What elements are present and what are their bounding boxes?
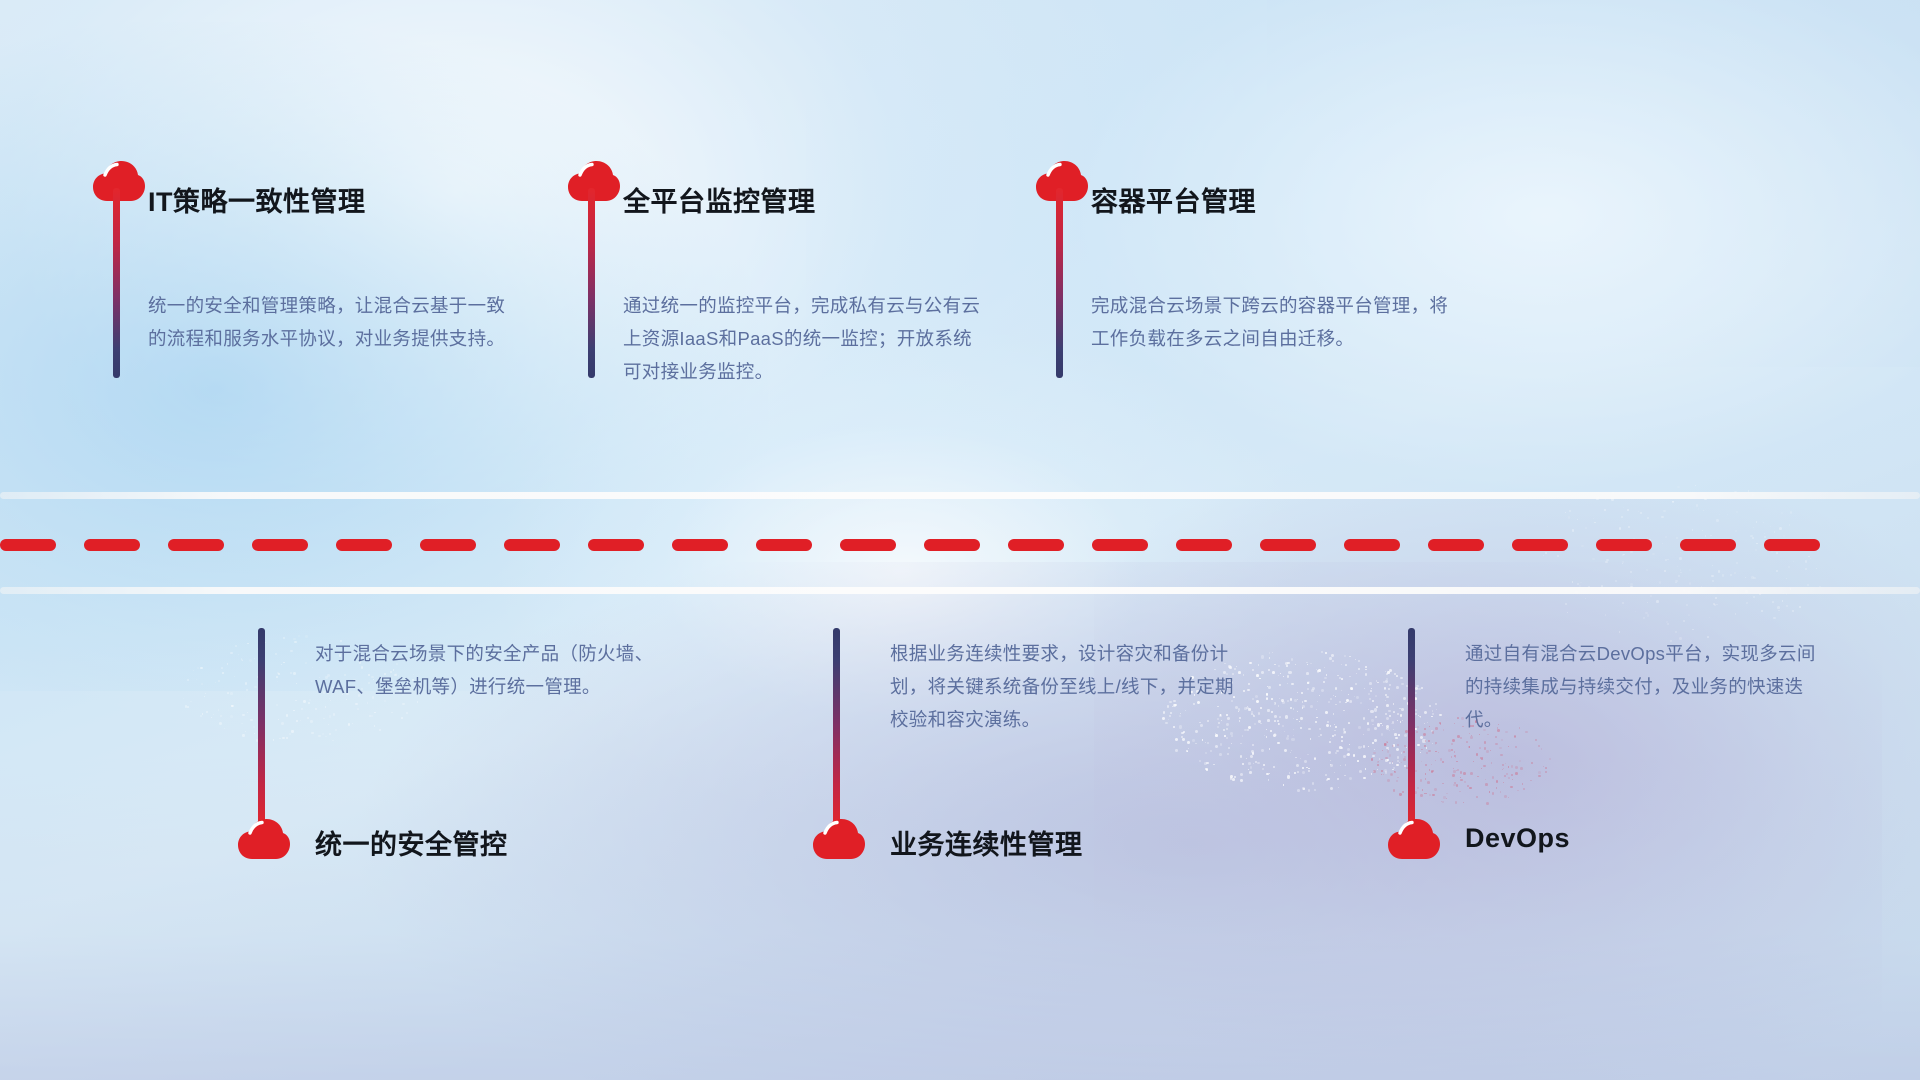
cloud-icon [812,818,866,860]
road-dash [588,539,644,551]
cloud-icon [1387,818,1441,860]
card-title: 容器平台管理 [1091,180,1256,219]
card-body: 统一的安全和管理策略，让混合云基于一致的流程和服务水平协议，对业务提供支持。 [148,290,508,356]
road-dash [252,539,308,551]
card-body: 通过统一的监控平台，完成私有云与公有云上资源IaaS和PaaS的统一监控；开放系… [623,290,983,389]
connector-stem [1408,628,1415,828]
card-title: 全平台监控管理 [623,180,816,219]
cloud-icon [237,818,291,860]
road-dash [1344,539,1400,551]
road-dash [756,539,812,551]
card-title: DevOps [1465,823,1570,854]
road-dash [0,539,56,551]
road-dash [1680,539,1736,551]
background-bottom-wash [0,756,1920,1080]
card-body: 对于混合云场景下的安全产品（防火墙、WAF、堡垒机等）进行统一管理。 [315,638,675,704]
road-dash [1008,539,1064,551]
road-dash [84,539,140,551]
road-dash-row [0,539,1920,551]
connector-stem [588,188,595,378]
card-title: IT策略一致性管理 [148,180,366,219]
road-dash [420,539,476,551]
connector-stem [113,188,120,378]
card-title: 业务连续性管理 [890,823,1083,862]
road-dash [1260,539,1316,551]
road-dash [1596,539,1652,551]
road-line-bottom [0,587,1920,594]
road-dash [336,539,392,551]
road-dash [1512,539,1568,551]
road-divider [0,492,1920,602]
card-body: 通过自有混合云DevOps平台，实现多云间的持续集成与持续交付，及业务的快速迭代… [1465,638,1825,737]
road-dash [504,539,560,551]
road-dash [672,539,728,551]
road-dash [168,539,224,551]
road-dash [924,539,980,551]
connector-stem [833,628,840,828]
card-body: 完成混合云场景下跨云的容器平台管理，将工作负载在多云之间自由迁移。 [1091,290,1451,356]
road-line-top [0,492,1920,499]
connector-stem [258,628,265,828]
connector-stem [1056,188,1063,378]
road-dash [1092,539,1148,551]
card-body: 根据业务连续性要求，设计容灾和备份计划，将关键系统备份至线上/线下，并定期校验和… [890,638,1250,737]
road-dash [1428,539,1484,551]
road-dash [1764,539,1820,551]
road-dash [840,539,896,551]
card-title: 统一的安全管控 [315,823,508,862]
road-dash [1176,539,1232,551]
